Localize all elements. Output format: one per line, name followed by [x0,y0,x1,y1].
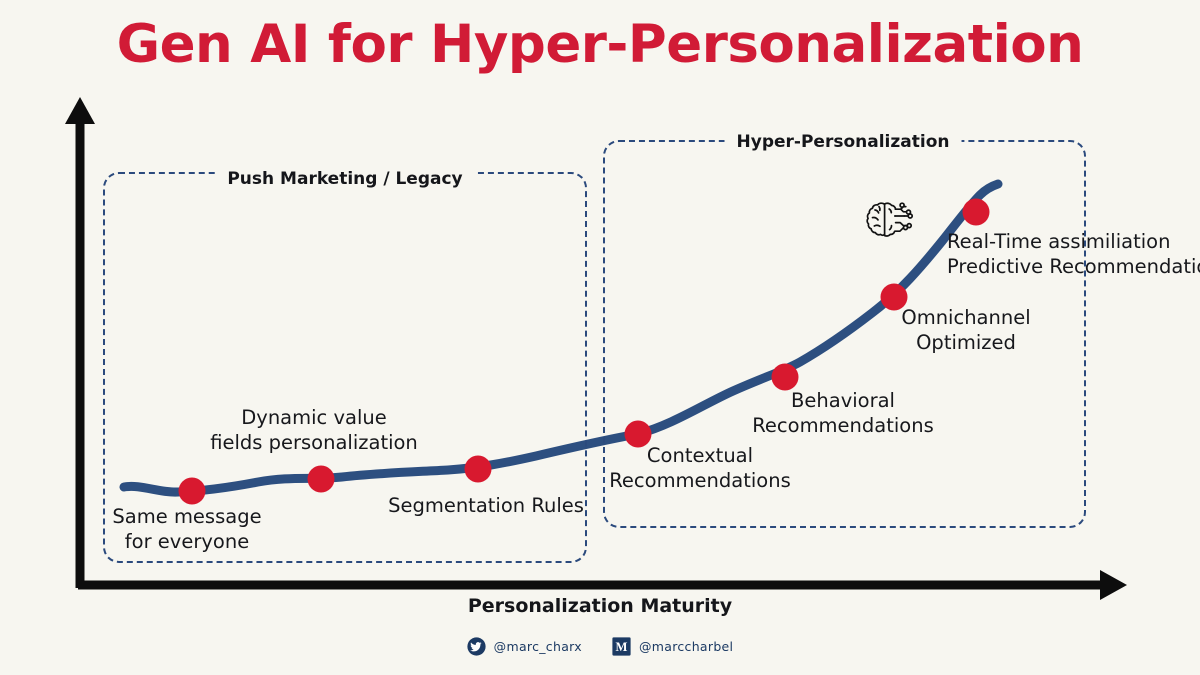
group-label-hyper-personalization: Hyper-Personalization [725,132,962,152]
node-label-line1: Real-Time assimiliation [947,230,1200,255]
node-label-line1: Contextual [609,444,791,469]
node-label-behavioral-recommendations: Behavioral Recommendations [752,389,934,439]
slide-canvas: Gen AI for Hyper-Personalization [0,0,1200,675]
node-label-line2: Predictive Recommendations [947,255,1200,280]
node-label-line2: for everyone [112,530,261,555]
node-label-contextual-recommendations: Contextual Recommendations [609,444,791,494]
svg-text:M: M [615,640,627,654]
node-label-line1: Omnichannel [901,306,1030,331]
node-label-line1: Dynamic value [210,406,418,431]
medium-m-icon: M [612,637,631,656]
credit-handle: @marc_charx [494,639,582,654]
x-axis-title: Personalization Maturity [0,595,1200,617]
footer-credits: @marc_charx M @marccharbel [0,637,1200,656]
node-label-same-message: Same message for everyone [112,505,261,555]
credit-twitter[interactable]: @marc_charx [467,637,582,656]
node-label-line1: Same message [112,505,261,530]
node-label-line2: Recommendations [609,469,791,494]
credit-handle: @marccharbel [639,639,733,654]
node-label-line2: Optimized [901,331,1030,356]
y-axis [65,97,95,588]
group-label-push-marketing: Push Marketing / Legacy [215,169,474,189]
node-label-segmentation-rules: Segmentation Rules [388,494,584,519]
node-label-line2: Recommendations [752,414,934,439]
node-label-real-time-predictive: Real-Time assimiliation Predictive Recom… [947,230,1200,280]
node-label-line2: fields personalization [210,431,418,456]
twitter-bird-icon [467,637,486,656]
credit-medium[interactable]: M @marccharbel [612,637,733,656]
node-label-line1: Behavioral [752,389,934,414]
node-label-line1: Segmentation Rules [388,494,584,519]
ai-brain-circuit-icon [862,196,918,244]
node-label-omnichannel-optimized: Omnichannel Optimized [901,306,1030,356]
node-label-dynamic-value-fields: Dynamic value fields personalization [210,406,418,456]
